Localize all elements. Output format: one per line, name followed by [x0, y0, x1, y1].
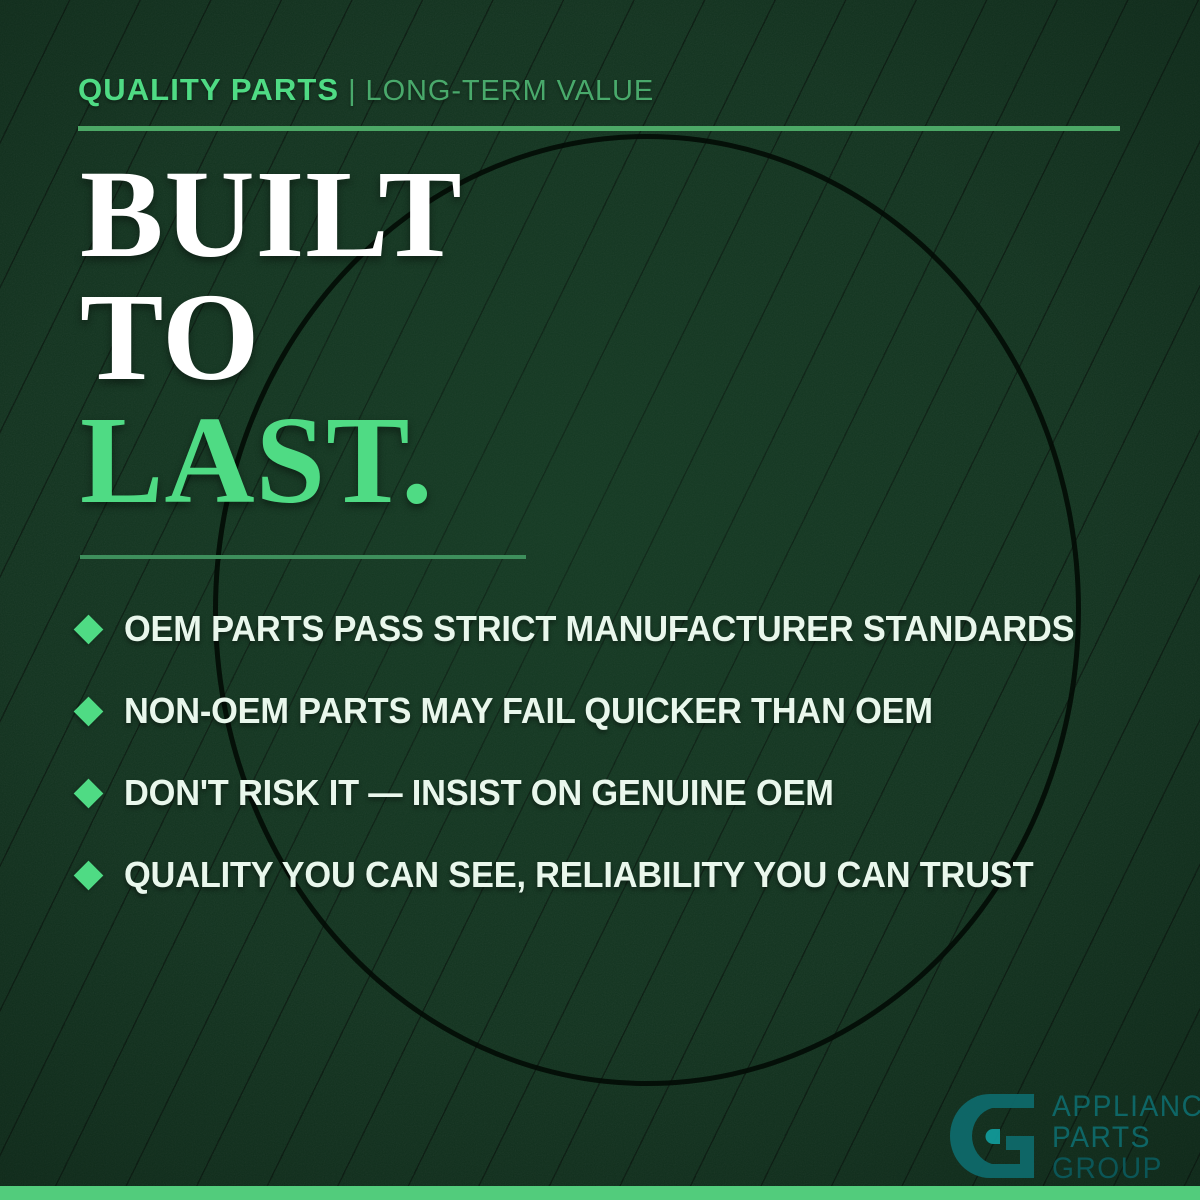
brand-word-3: GROUP [1052, 1153, 1200, 1184]
list-item: DON'T RISK IT — INSIST ON GENUINE OEM [78, 752, 1158, 834]
headline-block: BUILT TO LAST. [80, 154, 463, 523]
eyebrow-primary-text: QUALITY PARTS [78, 72, 339, 107]
diamond-icon [74, 778, 104, 808]
list-item-label: OEM PARTS PASS STRICT MANUFACTURER STAND… [124, 608, 1074, 650]
eyebrow-kicker: QUALITY PARTS| LONG-TERM VALUE [78, 74, 654, 106]
headline-line-2: TO [80, 277, 463, 400]
diamond-icon [74, 614, 104, 644]
g-monogram-icon [946, 1090, 1040, 1182]
list-item: OEM PARTS PASS STRICT MANUFACTURER STAND… [78, 588, 1158, 670]
brand-logo-wordmark: APPLIANCE PARTS GROUP [1052, 1091, 1200, 1185]
bottom-accent-bar [0, 1186, 1200, 1200]
poster-canvas: QUALITY PARTS| LONG-TERM VALUE BUILT TO … [0, 0, 1200, 1200]
brand-word-2: PARTS [1052, 1122, 1200, 1153]
brand-word-1: APPLIANCE [1052, 1091, 1200, 1122]
headline-divider-rule [80, 555, 526, 559]
headline-line-3: LAST. [80, 400, 463, 523]
benefit-list: OEM PARTS PASS STRICT MANUFACTURER STAND… [78, 588, 1158, 916]
diamond-icon [74, 860, 104, 890]
list-item-label: NON-OEM PARTS MAY FAIL QUICKER THAN OEM [124, 690, 933, 732]
list-item: QUALITY YOU CAN SEE, RELIABILITY YOU CAN… [78, 834, 1158, 916]
brand-logo: APPLIANCE PARTS GROUP [946, 1090, 1200, 1185]
list-item-label: DON'T RISK IT — INSIST ON GENUINE OEM [124, 772, 834, 814]
headline-line-1: BUILT [80, 154, 463, 277]
list-item-label: QUALITY YOU CAN SEE, RELIABILITY YOU CAN… [124, 854, 1033, 896]
list-item: NON-OEM PARTS MAY FAIL QUICKER THAN OEM [78, 670, 1158, 752]
header-divider-rule [78, 126, 1120, 131]
diamond-icon [74, 696, 104, 726]
eyebrow-secondary-text: | LONG-TERM VALUE [348, 75, 654, 107]
